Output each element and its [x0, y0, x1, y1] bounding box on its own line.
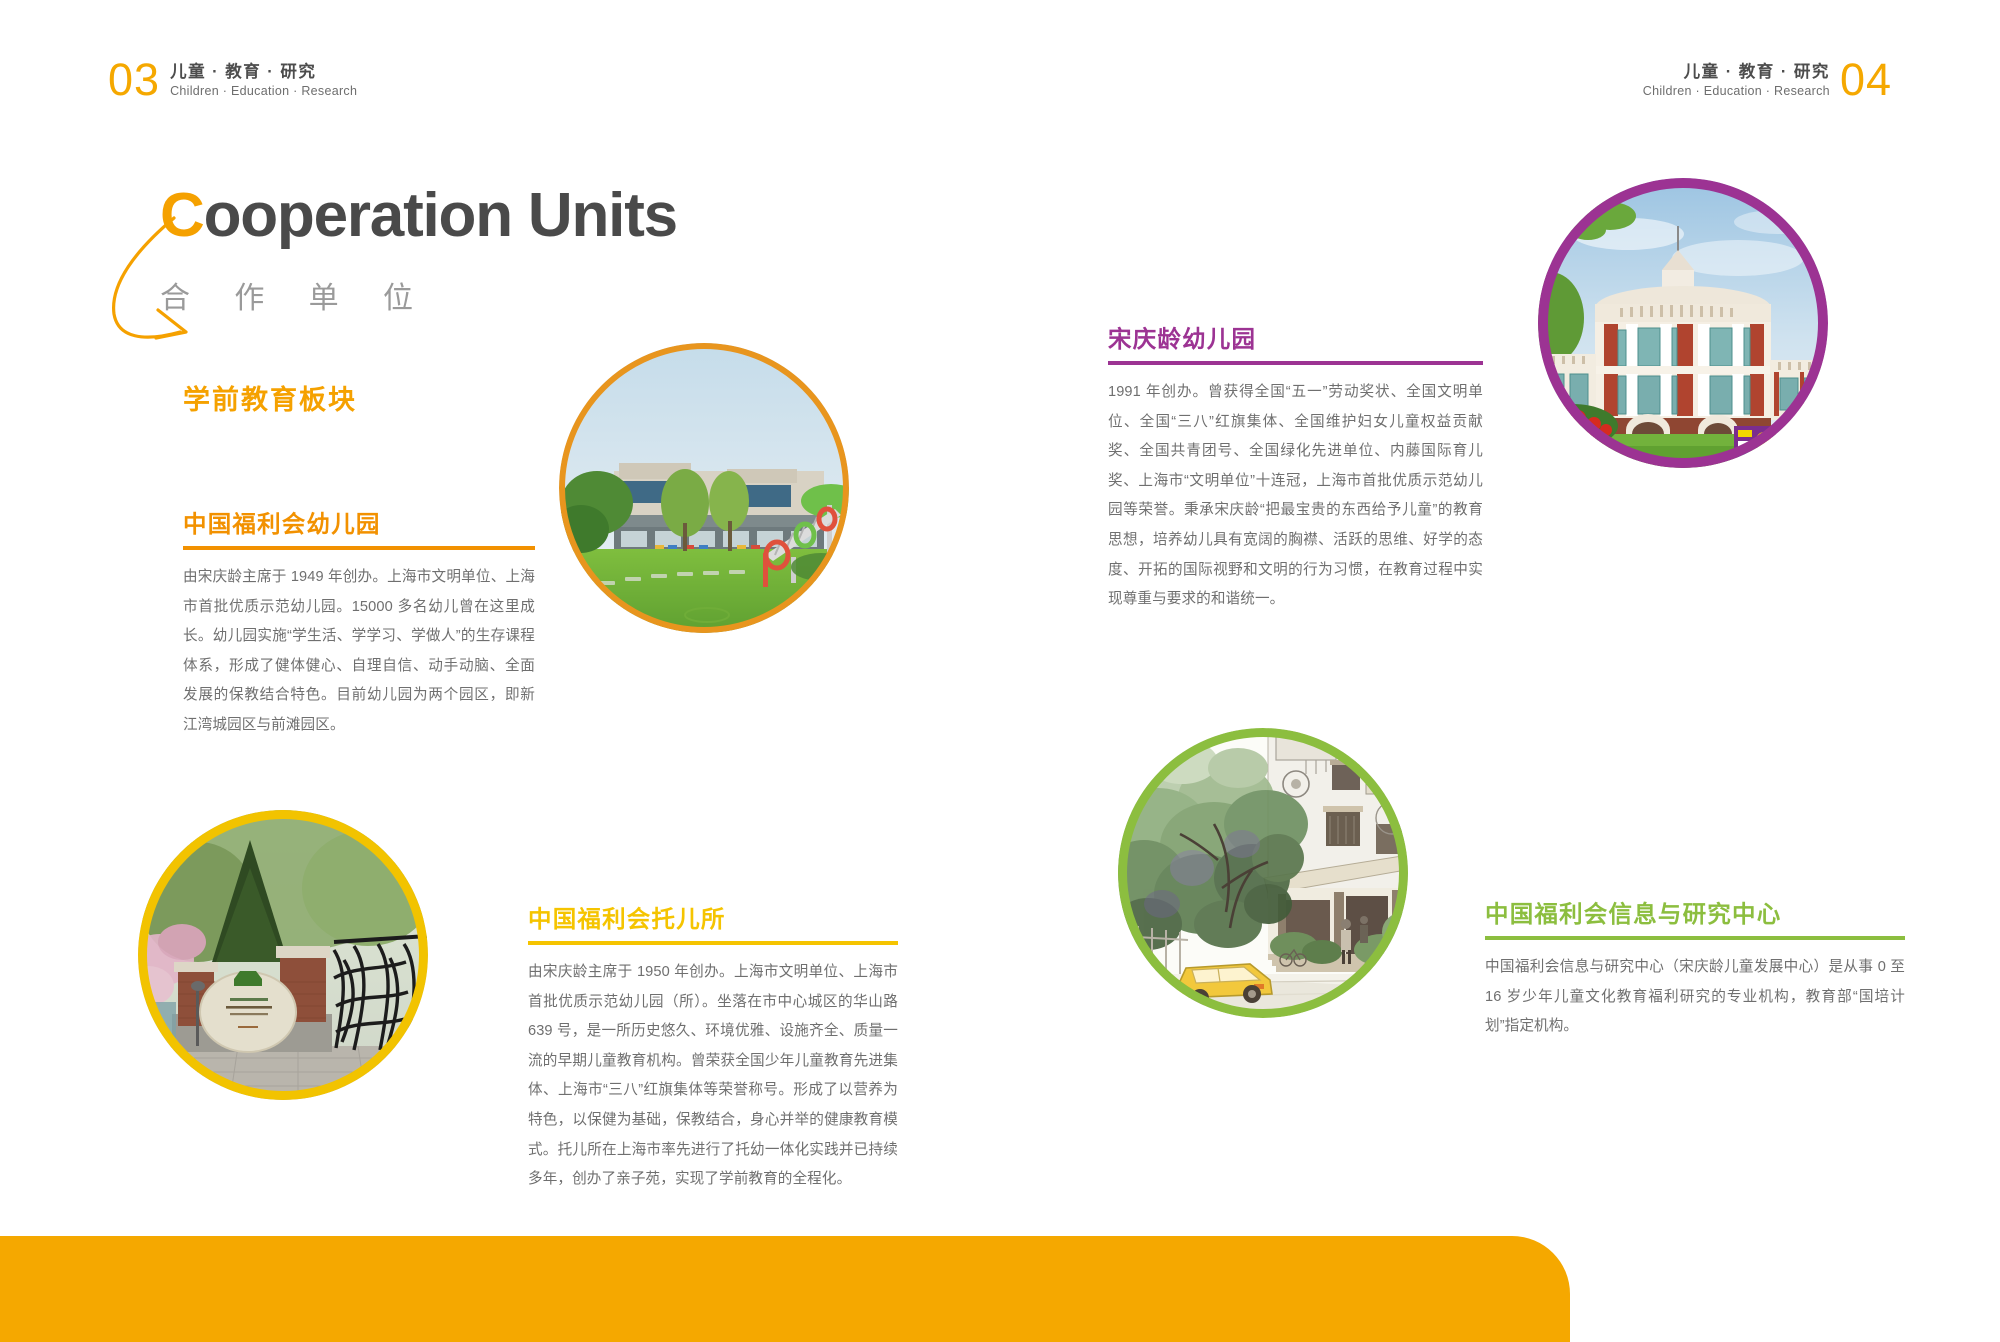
folio-number-left: 03: [108, 59, 160, 102]
page-subtitle-cn: 合 作 单 位: [160, 273, 677, 317]
block-info-center-rule: [1485, 936, 1905, 940]
block-sql-kindergarten-heading: 宋庆龄幼儿园: [1108, 325, 1483, 354]
block-kindergarten-body: 由宋庆龄主席于 1949 年创办。上海市文明单位、上海市首批优质示范幼儿园。15…: [183, 563, 535, 741]
brochure-spread: 03 儿童 · 教育 · 研究 Children · Education · R…: [0, 0, 2000, 1342]
bottom-accent-band: [0, 1236, 1570, 1342]
header-tagline-cn-right: 儿童 · 教育 · 研究: [1643, 58, 1830, 82]
page-title-rest: ooperation Units: [204, 181, 677, 250]
folio-number-right: 04: [1840, 59, 1892, 102]
block-nursery-rule: [528, 941, 898, 945]
page-header-right: 儿童 · 教育 · 研究 Children · Education · Rese…: [1643, 58, 1892, 102]
block-sql-kindergarten-rule: [1108, 361, 1483, 365]
photo-sql-kindergarten: [1538, 178, 1828, 468]
block-info-center-body: 中国福利会信息与研究中心（宋庆龄儿童发展中心）是从事 0 至 16 岁少年儿童文…: [1485, 953, 1905, 1042]
header-tagline-en-right: Children · Education · Research: [1643, 84, 1830, 98]
block-nursery-body: 由宋庆龄主席于 1950 年创办。上海市文明单位、上海市首批优质示范幼儿园（所）…: [528, 958, 898, 1195]
photo-nursery: [138, 810, 428, 1100]
page-title: Cooperation Units: [160, 185, 677, 247]
section-label: 学前教育板块: [183, 378, 357, 417]
header-tagline-en-left: Children · Education · Research: [170, 84, 357, 98]
block-kindergarten-rule: [183, 546, 535, 550]
block-kindergarten: 中国福利会幼儿园 由宋庆龄主席于 1949 年创办。上海市文明单位、上海市首批优…: [183, 510, 535, 741]
photo-info-center: [1118, 728, 1408, 1018]
header-tagline-cn-left: 儿童 · 教育 · 研究: [170, 58, 357, 82]
photo-sql-kindergarten-image: [1538, 178, 1828, 468]
photo-info-center-image: [1118, 728, 1408, 1018]
page-header-left: 03 儿童 · 教育 · 研究 Children · Education · R…: [108, 58, 357, 102]
block-info-center: 中国福利会信息与研究中心 中国福利会信息与研究中心（宋庆龄儿童发展中心）是从事 …: [1485, 900, 1905, 1042]
block-nursery: 中国福利会托儿所 由宋庆龄主席于 1950 年创办。上海市文明单位、上海市首批优…: [528, 905, 898, 1195]
page-title-initial: C: [160, 181, 204, 250]
block-kindergarten-heading: 中国福利会幼儿园: [183, 510, 535, 539]
photo-nursery-image: [138, 810, 428, 1100]
block-sql-kindergarten-body: 1991 年创办。曾获得全国“五一”劳动奖状、全国文明单位、全国“三八”红旗集体…: [1108, 378, 1483, 615]
page-title-group: Cooperation Units 合 作 单 位: [160, 185, 677, 317]
photo-kindergarten-image: [559, 343, 849, 633]
photo-kindergarten: [559, 343, 849, 633]
block-info-center-heading: 中国福利会信息与研究中心: [1485, 900, 1905, 929]
block-sql-kindergarten: 宋庆龄幼儿园 1991 年创办。曾获得全国“五一”劳动奖状、全国文明单位、全国“…: [1108, 325, 1483, 615]
block-nursery-heading: 中国福利会托儿所: [528, 905, 898, 934]
